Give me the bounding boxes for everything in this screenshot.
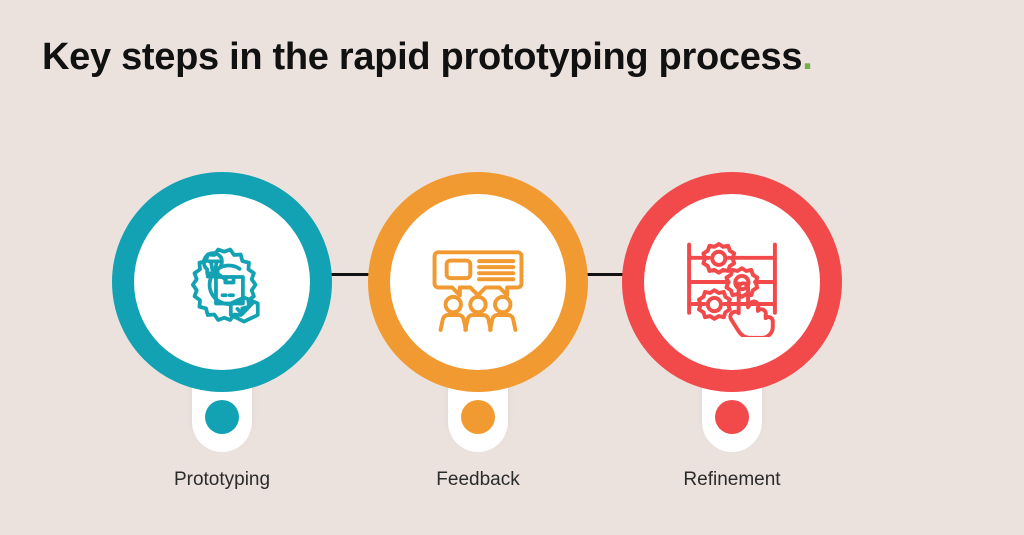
step-icon-disc xyxy=(134,194,310,370)
step-node-feedback[interactable]: Feedback xyxy=(368,172,588,492)
step-node-refinement[interactable]: Refinement xyxy=(622,172,842,492)
gear-lightbulb-box-shield-icon xyxy=(167,227,277,337)
pin-dot xyxy=(715,400,749,434)
speech-bubble-people-icon xyxy=(423,227,533,337)
title-accent-dot: . xyxy=(802,36,812,78)
step-ring xyxy=(622,172,842,392)
step-label: Refinement xyxy=(582,469,882,491)
step-node-prototyping[interactable]: Prototyping xyxy=(112,172,332,492)
step-icon-disc xyxy=(390,194,566,370)
step-ring xyxy=(112,172,332,392)
page-title-text: Key steps in the rapid prototyping proce… xyxy=(42,36,802,78)
page-title: Key steps in the rapid prototyping proce… xyxy=(42,36,812,79)
gear-sliders-hand-icon xyxy=(677,227,787,337)
pin-dot xyxy=(461,400,495,434)
pin-dot xyxy=(205,400,239,434)
step-label: Prototyping xyxy=(72,469,372,491)
step-ring xyxy=(368,172,588,392)
step-icon-disc xyxy=(644,194,820,370)
